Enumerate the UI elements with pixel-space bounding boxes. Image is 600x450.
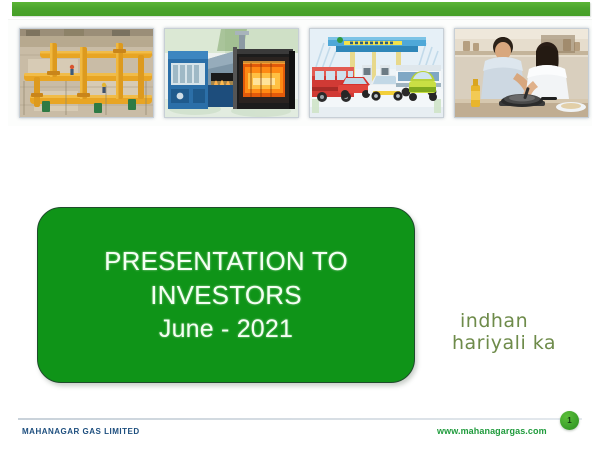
title-line-1: PRESENTATION TO: [104, 244, 348, 278]
photo-domestic-kitchen: [454, 28, 589, 118]
tagline-line-1: indhan: [460, 310, 528, 332]
tagline-artwork: indhan hariyali ka: [452, 303, 572, 359]
pipeline-illustration: [20, 29, 153, 117]
photo-cng-station: [309, 28, 444, 118]
photo-pipeline: [19, 28, 154, 118]
top-green-bar: [12, 2, 590, 16]
title-line-3-date: June - 2021: [159, 312, 293, 346]
title-line-2: INVESTORS: [150, 278, 302, 312]
page-number-badge: 1: [560, 411, 579, 430]
photo-industrial-furnace: [164, 28, 299, 118]
footer-divider: [18, 418, 582, 420]
website-link[interactable]: www.mahanagargas.com: [437, 426, 547, 436]
cng-station-illustration: [310, 29, 443, 117]
company-name: MAHANAGAR GAS LIMITED: [22, 427, 140, 436]
title-panel: PRESENTATION TO INVESTORS June - 2021: [37, 207, 415, 383]
brand-tagline-logo: indhan hariyali ka: [452, 303, 572, 359]
furnace-illustration: [165, 29, 298, 117]
photo-strip: [8, 19, 592, 126]
presentation-slide: PRESENTATION TO INVESTORS June - 2021 in…: [0, 0, 600, 450]
kitchen-illustration: [455, 29, 588, 117]
tagline-line-2: hariyali ka: [452, 332, 556, 354]
